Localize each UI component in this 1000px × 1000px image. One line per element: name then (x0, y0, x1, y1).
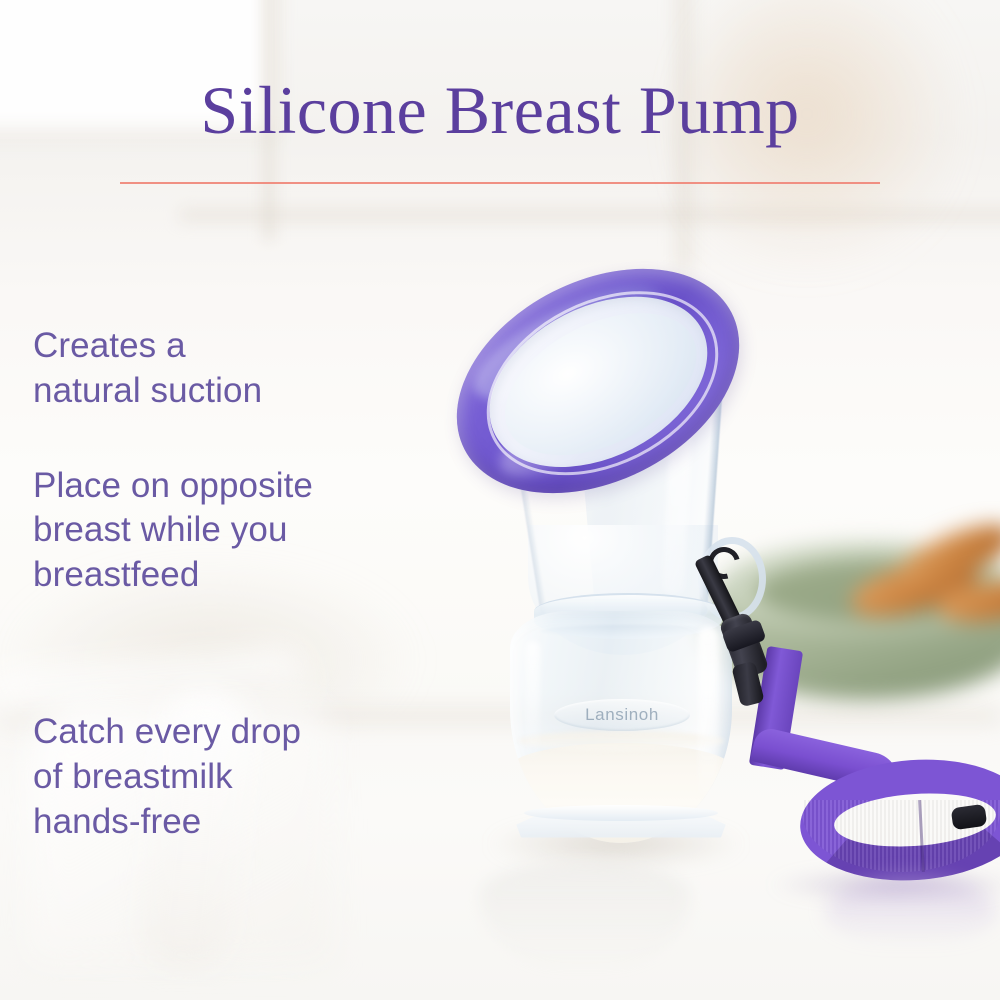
feature-line: Catch every drop (33, 710, 453, 755)
feature-creates-natural-suction: Creates a natural suction (33, 324, 453, 414)
product-marketing-image: Silicone Breast Pump Creates a natural s… (0, 0, 1000, 1000)
feature-line: natural suction (33, 369, 453, 414)
feature-line: hands-free (33, 800, 453, 845)
brand-emboss-lansinoh: Lansinoh (554, 699, 690, 731)
strap-reflection (826, 876, 996, 946)
feature-line: Place on opposite (33, 464, 453, 509)
feature-line: Creates a (33, 324, 453, 369)
feature-catch-every-drop: Catch every drop of breastmilk hands-fre… (33, 710, 453, 844)
feature-line: breastfeed (33, 553, 453, 598)
feature-line: breast while you (33, 508, 453, 553)
silicone-breast-pump: Lansinoh (430, 275, 790, 875)
breastmilk-surface (518, 731, 724, 751)
feature-line: of breastmilk (33, 755, 453, 800)
feature-place-on-opposite-breast: Place on opposite breast while you breas… (33, 464, 453, 598)
strap-clip (706, 553, 826, 713)
bottle-base-edge (524, 805, 718, 821)
bottle-highlight-left (526, 641, 540, 761)
title-divider (120, 182, 880, 184)
feature-list: Creates a natural suction Place on oppos… (33, 324, 453, 844)
page-title: Silicone Breast Pump (0, 76, 1000, 144)
